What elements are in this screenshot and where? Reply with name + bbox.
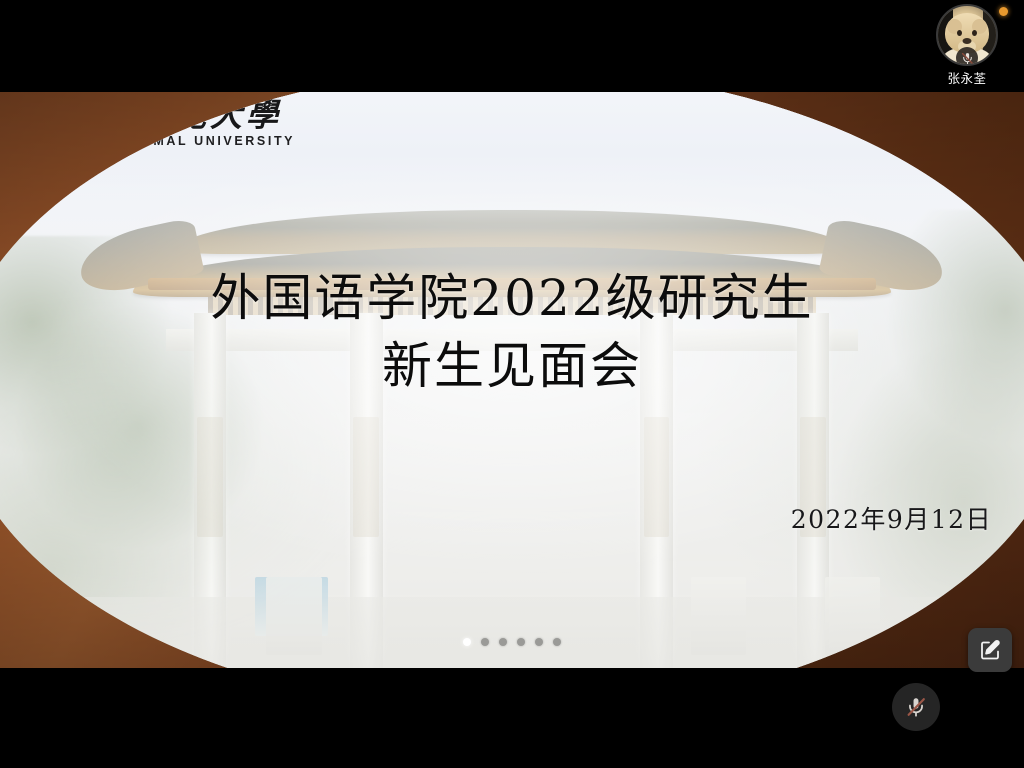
- shared-slide[interactable]: 1955 曲阜师範大學 QUFU NORMAL UNIVERSITY 外国语学院…: [0, 92, 1024, 668]
- self-participant-name: 张永荃: [934, 71, 1000, 86]
- slide-oval-photo-mask: 1955 曲阜师範大學 QUFU NORMAL UNIVERSITY 外国语学院…: [0, 92, 1024, 668]
- meeting-screen-share-view: 1955 曲阜师範大學 QUFU NORMAL UNIVERSITY 外国语学院…: [0, 0, 1024, 768]
- university-name-cn: 曲阜师範大學: [66, 97, 295, 133]
- pager-dot-1[interactable]: [463, 638, 471, 646]
- top-bar: 张永荃: [0, 0, 1024, 92]
- university-logo: 1955 曲阜师範大學 QUFU NORMAL UNIVERSITY: [0, 96, 295, 150]
- slide-date: 2022年9月12日: [791, 500, 992, 536]
- qufu-university-emblem-icon: 1955: [0, 96, 52, 150]
- avatar-mic-off-icon: [956, 47, 978, 66]
- university-logo-text: 曲阜师範大學 QUFU NORMAL UNIVERSITY: [66, 97, 295, 148]
- microphone-toggle-button[interactable]: [892, 683, 940, 731]
- pager-dot-2[interactable]: [481, 638, 489, 646]
- self-view-tile[interactable]: 张永荃: [934, 4, 1000, 86]
- pager-dot-6[interactable]: [553, 638, 561, 646]
- notification-dot-icon[interactable]: [999, 7, 1008, 16]
- emblem-year: 1955: [20, 127, 30, 132]
- pager-dot-5[interactable]: [535, 638, 543, 646]
- slide-title-line-2: 新生见面会: [0, 332, 1024, 400]
- pager-dot-4[interactable]: [517, 638, 525, 646]
- avatar: [936, 4, 998, 66]
- slide-title-line-1: 外国语学院2022级研究生: [0, 264, 1024, 332]
- slide-pager[interactable]: [0, 638, 1024, 646]
- pager-dot-3[interactable]: [499, 638, 507, 646]
- annotate-button[interactable]: [968, 628, 1012, 672]
- slide-title: 外国语学院2022级研究生 新生见面会: [0, 264, 1024, 400]
- university-name-en: QUFU NORMAL UNIVERSITY: [66, 134, 295, 148]
